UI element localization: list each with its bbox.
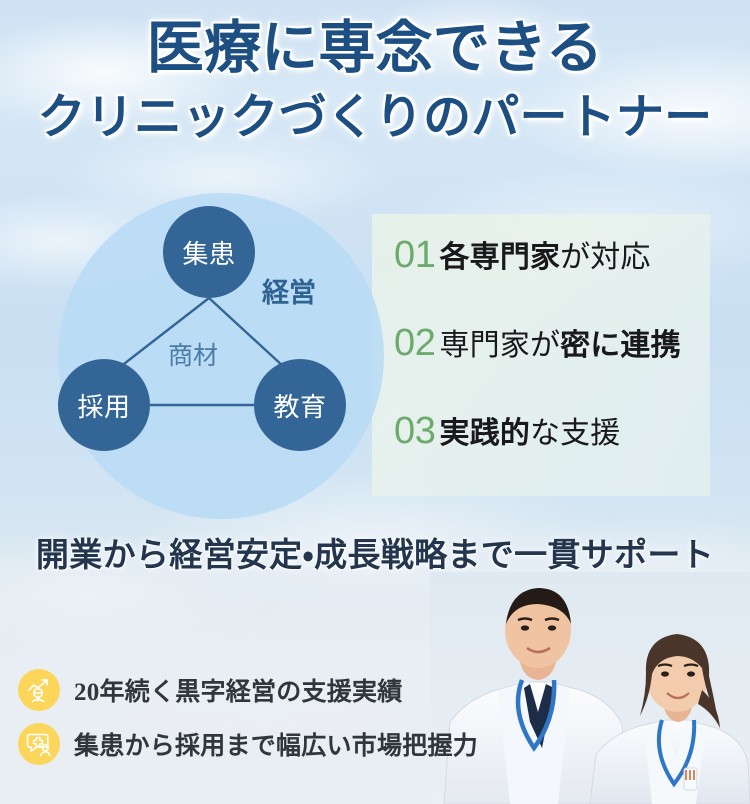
highlight-text-2: 集患から採用まで幅広い市場把握力 — [74, 726, 478, 762]
feature-text-03-rest: な支援 — [530, 417, 620, 450]
chat-medical-person-icon — [18, 723, 60, 765]
feature-text-02-lead: 専門家が — [440, 329, 561, 362]
hero-banner: 医療に専念できる クリニックづくりのパートナー 集患 採用 教育 経営 商材 0… — [0, 0, 750, 804]
feature-item-02: 02 専門家が密に連携 — [394, 320, 710, 408]
feature-number-02: 02 — [394, 322, 436, 365]
feature-text-02: 専門家が密に連携 — [440, 320, 681, 364]
highlight-text-1: 20年続く黒字経営の支援実績 — [74, 672, 403, 708]
feature-text-03: 実践的な支援 — [440, 408, 621, 452]
diagram-label-management: 経営 — [262, 271, 316, 310]
diagram-label-products: 商材 — [168, 336, 218, 372]
growth-chart-person-icon — [18, 669, 60, 711]
headline-line-2: クリニックづくりのパートナー — [0, 90, 750, 146]
feature-text-01: 各専門家が対応 — [440, 232, 651, 276]
diagram-node-saiyou: 採用 — [58, 359, 150, 451]
business-triangle-diagram: 集患 採用 教育 経営 商材 — [58, 193, 388, 523]
feature-text-03-bold: 実践的 — [440, 417, 530, 450]
diagram-node-kyouiku-label: 教育 — [273, 387, 326, 424]
feature-item-01: 01 各専門家が対応 — [394, 232, 710, 320]
support-banner-text: 開業から経営安定・成長戦略まで一貫サポート — [0, 528, 750, 576]
diagram-node-saiyou-label: 採用 — [77, 387, 130, 424]
highlight-list: 20年続く黒字経営の支援実績 集患から採用まで幅広い市場把握力 — [18, 664, 488, 772]
feature-number-01: 01 — [394, 234, 436, 277]
feature-item-03: 03 実践的な支援 — [394, 408, 710, 496]
highlight-item-1: 20年続く黒字経営の支援実績 — [18, 664, 488, 716]
feature-list: 01 各専門家が対応 02 専門家が密に連携 03 実践的な支援 — [394, 232, 710, 496]
feature-text-02-bold: 密に連携 — [560, 329, 681, 362]
diagram-node-kyouiku: 教育 — [254, 359, 346, 451]
diagram-node-shuukan: 集患 — [163, 206, 255, 298]
page-title: 医療に専念できる クリニックづくりのパートナー — [0, 16, 750, 146]
headline-line-1: 医療に専念できる — [0, 16, 750, 82]
highlight-item-2: 集患から採用まで幅広い市場把握力 — [18, 718, 488, 770]
diagram-node-shuukan-label: 集患 — [182, 234, 235, 271]
feature-text-01-rest: が対応 — [560, 241, 650, 274]
feature-text-01-bold: 各専門家 — [440, 241, 561, 274]
feature-number-03: 03 — [394, 410, 436, 453]
